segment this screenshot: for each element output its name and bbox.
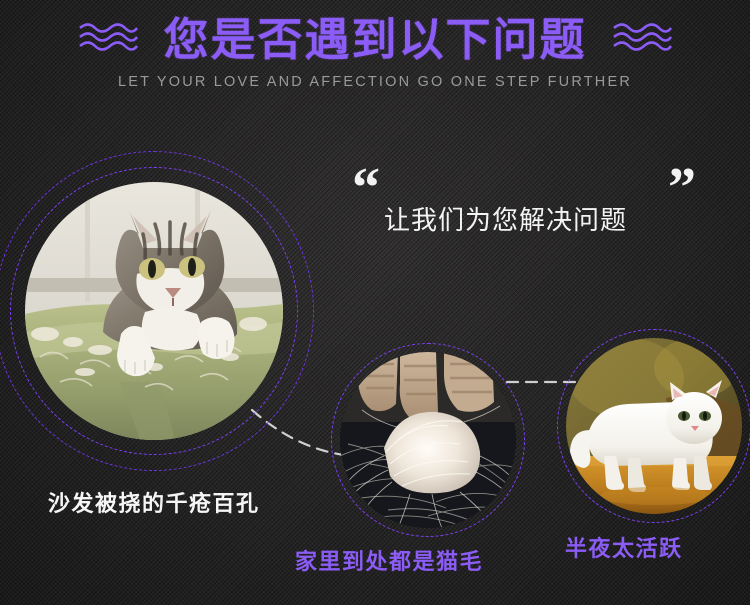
page-title: 您是否遇到以下问题 bbox=[163, 17, 586, 62]
quote-text: 让我们为您解决问题 bbox=[384, 200, 627, 237]
wave-decoration-left-icon bbox=[77, 20, 139, 59]
page-subtitle: LET YOUR LOVE AND AFFECTION GO ONE STEP … bbox=[0, 74, 750, 90]
promo-banner: 您是否遇到以下问题 LET YOUR LOVE AND AFFECTION GO… bbox=[0, 0, 750, 605]
photo-scratched-sofa bbox=[25, 182, 283, 440]
photo-cat-hair-clump bbox=[340, 352, 516, 528]
caption-active-at-night: 半夜太活跃 bbox=[565, 531, 683, 563]
quote-close-icon: ” bbox=[668, 160, 696, 216]
quote-open-icon: “ bbox=[352, 160, 380, 216]
photo-white-cat-night bbox=[566, 338, 742, 514]
caption-scratched-sofa: 沙发被挠的千疮百孔 bbox=[48, 486, 260, 518]
title-row: 您是否遇到以下问题 bbox=[0, 8, 750, 70]
quote-block: “ ” 让我们为您解决问题 bbox=[352, 172, 692, 242]
caption-cat-hair-everywhere: 家里到处都是猫毛 bbox=[295, 544, 483, 576]
wave-decoration-right-icon bbox=[611, 20, 673, 59]
header-section: 您是否遇到以下问题 LET YOUR LOVE AND AFFECTION GO… bbox=[0, 0, 750, 110]
